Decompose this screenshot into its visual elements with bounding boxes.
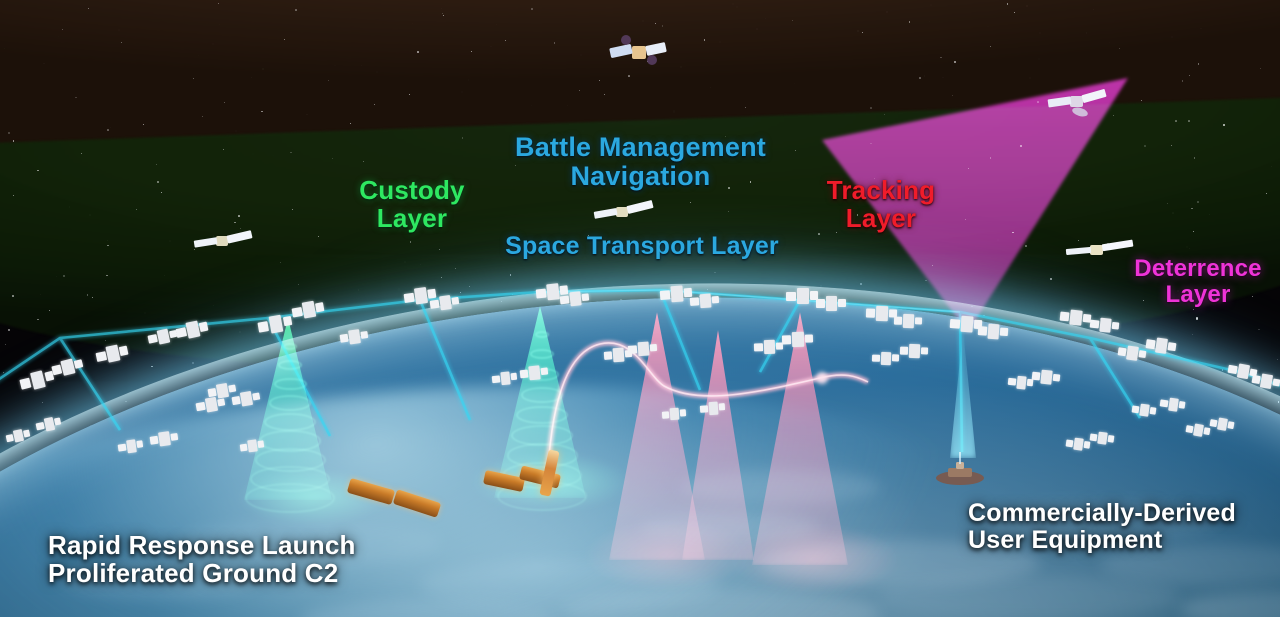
star	[855, 152, 856, 153]
star	[374, 104, 375, 105]
label-user-equipment[interactable]: Commercially-Derived User Equipment	[968, 500, 1236, 554]
star	[92, 297, 93, 298]
star	[56, 276, 57, 277]
cloud	[880, 575, 1180, 617]
leo-satellite	[291, 300, 323, 321]
star	[239, 331, 241, 333]
star	[655, 23, 656, 24]
star	[1198, 63, 1199, 64]
satellite-bus	[105, 345, 120, 363]
star	[1271, 166, 1272, 167]
solar-panel	[315, 302, 324, 312]
star	[756, 28, 758, 30]
star	[512, 294, 513, 295]
star	[589, 199, 591, 201]
star	[1045, 119, 1047, 121]
star	[250, 316, 251, 317]
satellite-bus	[13, 429, 24, 443]
star	[412, 23, 413, 24]
star	[990, 157, 991, 158]
solar-panel	[430, 300, 440, 309]
leo-satellite	[403, 286, 435, 306]
solar-panel	[559, 285, 568, 294]
star	[1027, 219, 1029, 221]
star	[417, 51, 419, 53]
star	[47, 427, 48, 428]
satellite-bus	[185, 321, 200, 339]
star	[1172, 212, 1174, 214]
star	[151, 366, 153, 368]
star	[1113, 115, 1114, 116]
star	[88, 8, 89, 9]
star	[89, 214, 91, 216]
star	[1163, 132, 1164, 133]
star	[194, 249, 195, 250]
satellite-bus	[1237, 363, 1250, 379]
leo-satellite	[1251, 372, 1279, 390]
star	[1050, 278, 1052, 280]
leo-satellite	[175, 319, 208, 341]
star	[62, 29, 63, 30]
star	[471, 51, 472, 52]
star	[157, 181, 158, 182]
star	[1058, 320, 1060, 322]
satellite-bus	[439, 295, 452, 310]
star	[1258, 329, 1259, 330]
scan-ring	[516, 406, 568, 424]
solar-panel	[1249, 368, 1257, 377]
star	[997, 239, 999, 241]
star	[118, 29, 120, 31]
star	[496, 24, 497, 25]
star	[954, 61, 956, 63]
star	[350, 123, 351, 124]
star	[1222, 369, 1224, 371]
leo-satellite	[535, 282, 567, 301]
star	[290, 152, 292, 154]
star	[884, 114, 885, 115]
star	[1037, 101, 1039, 103]
star	[58, 36, 59, 37]
star	[298, 284, 299, 285]
star	[224, 102, 225, 103]
star	[334, 65, 336, 67]
leo-satellite	[5, 428, 30, 445]
leo-satellite	[1059, 309, 1089, 327]
star	[1086, 32, 1087, 33]
star	[169, 240, 171, 242]
star	[628, 291, 629, 292]
star	[1029, 77, 1031, 79]
scan-ring	[530, 349, 554, 359]
satellite-bus	[61, 358, 76, 375]
star	[306, 114, 308, 116]
tracking-footprint-right	[730, 524, 898, 594]
star	[4, 48, 5, 49]
star	[860, 283, 862, 285]
star	[1209, 214, 1210, 215]
star	[328, 80, 329, 81]
star	[205, 227, 206, 228]
solar-panel	[147, 334, 157, 344]
star	[1014, 12, 1016, 14]
star	[110, 127, 111, 128]
satellite-bus	[1070, 310, 1083, 326]
star	[468, 79, 469, 80]
star	[43, 63, 44, 64]
star	[462, 137, 463, 138]
star	[1191, 208, 1192, 209]
star	[1119, 48, 1120, 49]
scan-ring	[526, 368, 559, 381]
geo-satellite-top	[606, 28, 670, 80]
solar-panel	[23, 430, 30, 438]
star	[225, 148, 226, 149]
star	[213, 235, 215, 237]
star	[579, 90, 580, 91]
star	[261, 111, 263, 113]
solar-panel	[1251, 375, 1261, 384]
star	[1193, 309, 1194, 310]
star	[1205, 113, 1206, 114]
leo-satellite	[147, 327, 176, 346]
star	[49, 310, 50, 311]
label-battle-management[interactable]: Battle Management Navigation	[468, 133, 813, 191]
star	[1107, 243, 1108, 244]
solar-panel	[36, 422, 45, 431]
star	[262, 68, 264, 70]
solar-panel	[54, 418, 62, 426]
star	[1260, 68, 1261, 69]
solar-panel	[1138, 350, 1146, 358]
star	[424, 126, 426, 128]
star	[897, 168, 898, 169]
star	[1187, 182, 1189, 184]
star	[81, 153, 82, 154]
star	[925, 280, 927, 282]
star	[641, 59, 642, 60]
satellite-bus	[1260, 373, 1273, 389]
satellite-bus	[1099, 318, 1111, 333]
star	[983, 159, 984, 160]
solar-panel	[199, 321, 208, 331]
star	[69, 206, 71, 208]
solar-panel	[283, 316, 293, 326]
star	[42, 402, 43, 403]
satellite-bus	[301, 301, 316, 319]
star	[107, 245, 109, 247]
star	[765, 18, 766, 19]
star	[441, 8, 442, 9]
star	[844, 142, 845, 143]
star	[1078, 240, 1079, 241]
leo-satellite	[257, 313, 291, 335]
star	[490, 46, 492, 48]
star	[987, 26, 988, 27]
star	[736, 6, 737, 7]
solar-panel	[536, 288, 547, 298]
star	[1256, 373, 1257, 374]
star	[193, 78, 194, 79]
star	[940, 57, 941, 58]
star	[213, 305, 214, 306]
star	[1141, 100, 1142, 101]
star	[202, 116, 203, 117]
star	[439, 249, 440, 250]
satellite-bus	[156, 329, 169, 345]
solar-panel	[810, 291, 818, 300]
star	[156, 164, 157, 165]
scan-ring	[245, 483, 335, 513]
star	[3, 372, 4, 373]
star	[284, 39, 285, 40]
star	[983, 315, 984, 316]
tracking-footprint-left	[586, 520, 750, 590]
star	[223, 149, 225, 151]
solar-panel	[1146, 339, 1156, 349]
scan-ring	[278, 360, 302, 370]
star	[886, 11, 888, 13]
star	[792, 20, 793, 21]
star	[139, 184, 141, 186]
solar-panel	[6, 434, 15, 442]
star	[192, 362, 194, 364]
label-space-transport-layer[interactable]: Space Transport Layer	[452, 233, 832, 260]
star	[599, 80, 600, 81]
star	[8, 132, 9, 133]
star	[642, 20, 643, 21]
satellite-bus	[43, 417, 55, 432]
star	[1171, 145, 1172, 146]
star	[1194, 157, 1196, 159]
star	[604, 94, 605, 95]
solar-panel	[1090, 320, 1099, 329]
star	[647, 61, 648, 62]
transport-satellite-center	[592, 196, 654, 228]
cloud	[680, 470, 880, 504]
satellite-bus	[268, 315, 284, 334]
star	[136, 209, 137, 210]
solar-panel	[95, 351, 106, 362]
star	[442, 13, 443, 14]
star	[1197, 201, 1199, 203]
star	[461, 91, 463, 93]
star	[870, 107, 872, 109]
leo-satellite	[51, 357, 83, 379]
star	[971, 306, 973, 308]
scan-ring	[497, 481, 587, 511]
solar-panel	[1060, 312, 1070, 322]
star	[361, 65, 362, 66]
solar-panel	[451, 296, 459, 304]
solar-panel	[1111, 321, 1119, 329]
star	[15, 176, 17, 178]
star	[707, 289, 708, 290]
star	[143, 124, 144, 125]
star	[292, 209, 293, 210]
star	[857, 30, 859, 32]
star	[1093, 9, 1094, 10]
star	[307, 216, 308, 217]
star	[531, 8, 533, 10]
star	[1200, 28, 1202, 30]
star	[63, 275, 64, 276]
solar-panel	[1227, 365, 1237, 374]
pwsa-architecture-graphic: Custody Layer Battle Management Navigati…	[0, 0, 1280, 617]
star	[5, 344, 7, 346]
star	[924, 75, 926, 77]
star	[112, 156, 113, 157]
star	[332, 158, 333, 159]
star	[862, 32, 863, 33]
star	[1189, 75, 1190, 76]
star	[501, 301, 502, 302]
scan-ring	[283, 343, 297, 350]
star	[460, 292, 461, 293]
star	[1193, 231, 1194, 232]
star	[420, 264, 421, 265]
scan-ring	[269, 395, 312, 411]
solar-panel	[168, 329, 176, 338]
star	[1186, 246, 1188, 248]
star	[213, 324, 214, 325]
star	[510, 274, 512, 276]
star	[107, 129, 109, 131]
satellite-bus	[546, 283, 560, 300]
solar-panel	[1083, 314, 1091, 323]
star	[144, 312, 146, 314]
star	[732, 3, 733, 4]
star	[13, 140, 14, 141]
star	[719, 41, 721, 43]
solar-panel	[1272, 378, 1280, 387]
star	[909, 21, 910, 22]
star	[1188, 120, 1190, 122]
star	[240, 228, 241, 229]
star	[1144, 145, 1146, 147]
satellite-bus	[1155, 338, 1168, 354]
star	[662, 25, 663, 26]
star	[1007, 3, 1009, 5]
star	[1109, 42, 1110, 43]
star	[125, 401, 127, 403]
star	[252, 153, 254, 155]
star	[794, 83, 795, 84]
star	[710, 87, 711, 88]
solar-panel	[51, 365, 62, 376]
star	[968, 168, 969, 169]
star	[1260, 125, 1262, 127]
label-ground-segment[interactable]: Rapid Response Launch Proliferated Groun…	[48, 531, 356, 587]
star	[820, 285, 821, 286]
star	[1167, 203, 1168, 204]
deterrence-satellite-upper	[1046, 82, 1108, 122]
star	[292, 327, 294, 329]
star	[404, 261, 406, 263]
star	[358, 289, 359, 290]
star	[690, 202, 691, 203]
star	[121, 42, 122, 43]
star	[1196, 317, 1198, 319]
star	[235, 130, 237, 132]
star	[1020, 145, 1021, 146]
star	[548, 302, 549, 303]
star	[1278, 401, 1279, 402]
star	[1095, 132, 1096, 133]
star	[745, 107, 746, 108]
star	[680, 66, 682, 68]
star	[469, 286, 470, 287]
satellite-bus	[414, 287, 428, 305]
star	[1100, 318, 1101, 319]
label-deterrence-layer[interactable]: Deterrence Layer	[1108, 256, 1280, 308]
star	[234, 222, 235, 223]
star	[455, 268, 456, 269]
star	[1025, 245, 1027, 247]
star	[929, 21, 930, 22]
star	[87, 294, 89, 296]
star	[704, 39, 705, 40]
star	[1223, 124, 1224, 125]
solar-panel	[581, 293, 589, 301]
solar-panel	[684, 288, 692, 297]
star	[238, 215, 240, 217]
star	[1182, 80, 1183, 81]
star	[580, 54, 582, 56]
star	[1026, 5, 1028, 7]
star	[932, 265, 933, 266]
star	[398, 288, 400, 290]
star	[363, 161, 364, 162]
leo-satellite	[18, 368, 53, 392]
star	[952, 95, 953, 96]
solar-panel	[19, 377, 31, 389]
star	[443, 15, 444, 16]
star	[675, 210, 676, 211]
star	[1189, 248, 1190, 249]
star	[107, 240, 108, 241]
star	[1012, 232, 1013, 233]
star	[1277, 359, 1278, 360]
solar-panel	[257, 321, 269, 332]
star	[272, 155, 274, 157]
star	[870, 143, 871, 144]
scan-ring	[274, 378, 307, 391]
solar-panel	[175, 327, 186, 338]
leo-satellite	[95, 343, 128, 365]
star	[1039, 32, 1041, 34]
solar-panel	[119, 345, 128, 355]
star	[836, 232, 837, 233]
star	[1266, 193, 1267, 194]
solar-panel	[404, 292, 415, 303]
star	[280, 262, 281, 263]
star	[37, 319, 38, 320]
star	[815, 297, 816, 298]
star	[295, 9, 297, 11]
solar-panel	[74, 359, 83, 369]
star	[1161, 144, 1162, 145]
meo-satellite-left	[192, 224, 254, 258]
star	[409, 94, 410, 95]
star	[318, 236, 319, 237]
star	[75, 97, 77, 99]
star	[117, 330, 118, 331]
star	[930, 4, 932, 6]
star	[1175, 120, 1177, 122]
label-tracking-layer[interactable]: Tracking Layer	[796, 176, 966, 232]
star	[441, 277, 442, 278]
